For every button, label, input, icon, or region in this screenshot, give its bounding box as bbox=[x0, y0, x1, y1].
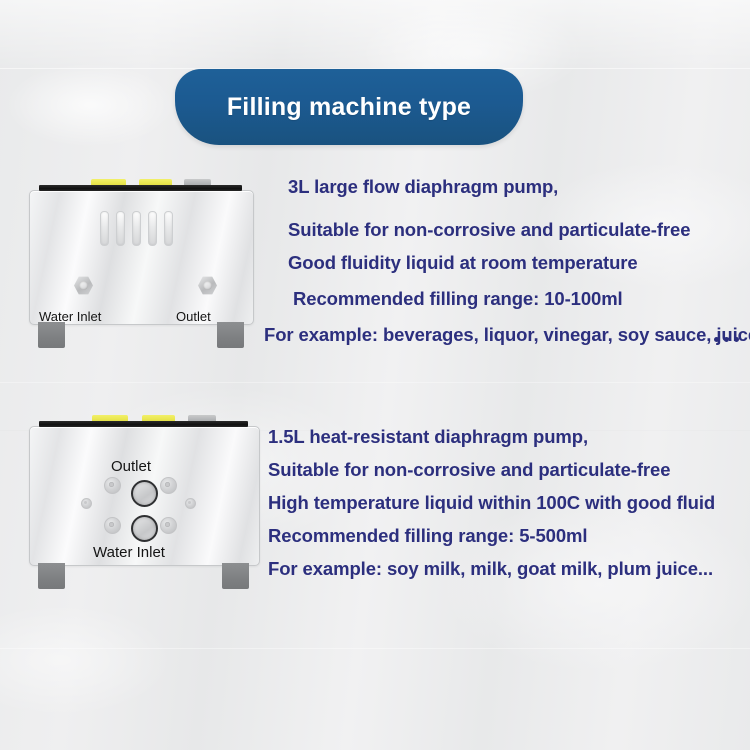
dot bbox=[724, 337, 729, 342]
description-line: For example: soy milk, milk, goat milk, … bbox=[268, 560, 713, 579]
outlet-label: Outlet bbox=[176, 309, 211, 324]
machine-body-panel: Water Inlet Outlet bbox=[29, 190, 254, 325]
machine-illustration-3l: Water Inlet Outlet bbox=[29, 176, 254, 361]
background-seam bbox=[0, 382, 750, 383]
outlet-fitting-icon bbox=[198, 276, 217, 295]
vent-slot bbox=[164, 211, 173, 246]
ellipsis-dots bbox=[714, 337, 739, 342]
bolt-icon bbox=[160, 477, 177, 494]
description-line: Good fluidity liquid at room temperature bbox=[288, 254, 638, 273]
description-line: Suitable for non-corrosive and particula… bbox=[288, 221, 690, 240]
vent-slot bbox=[132, 211, 141, 246]
vent-slot bbox=[116, 211, 125, 246]
description-line: High temperature liquid within 100C with… bbox=[268, 494, 715, 513]
bolt-icon bbox=[185, 498, 196, 509]
top-black-bar bbox=[39, 421, 248, 427]
dot bbox=[714, 337, 719, 342]
machine-leg bbox=[217, 322, 244, 348]
machine-leg bbox=[38, 563, 65, 589]
vent-slot bbox=[100, 211, 109, 246]
infographic-page: Filling machine type Water Inlet Outlet … bbox=[0, 0, 750, 750]
description-line: Recommended filling range: 10-100ml bbox=[293, 290, 623, 309]
top-black-bar bbox=[39, 185, 242, 191]
bolt-icon bbox=[104, 517, 121, 534]
machine-illustration-1-5l: Outlet Water Inlet bbox=[29, 412, 260, 602]
title-banner: Filling machine type bbox=[175, 69, 523, 145]
bolt-icon bbox=[81, 498, 92, 509]
description-line: Recommended filling range: 5-500ml bbox=[268, 527, 587, 546]
dot bbox=[734, 337, 739, 342]
page-title: Filling machine type bbox=[227, 93, 471, 122]
description-line: 1.5L heat-resistant diaphragm pump, bbox=[268, 428, 588, 447]
bolt-icon bbox=[160, 517, 177, 534]
description-line: For example: beverages, liquor, vinegar,… bbox=[264, 326, 750, 345]
vent-slot bbox=[148, 211, 157, 246]
machine-leg bbox=[222, 563, 249, 589]
water-inlet-label: Water Inlet bbox=[93, 544, 165, 561]
machine-body-panel: Outlet Water Inlet bbox=[29, 426, 260, 566]
machine-leg bbox=[38, 322, 65, 348]
description-line: 3L large flow diaphragm pump, bbox=[288, 178, 558, 197]
bolt-icon bbox=[104, 477, 121, 494]
background-seam bbox=[0, 648, 750, 649]
outlet-port-icon bbox=[131, 480, 158, 507]
water-inlet-port-icon bbox=[131, 515, 158, 542]
description-line: Suitable for non-corrosive and particula… bbox=[268, 461, 670, 480]
water-inlet-fitting-icon bbox=[74, 276, 93, 295]
outlet-label: Outlet bbox=[111, 458, 151, 475]
